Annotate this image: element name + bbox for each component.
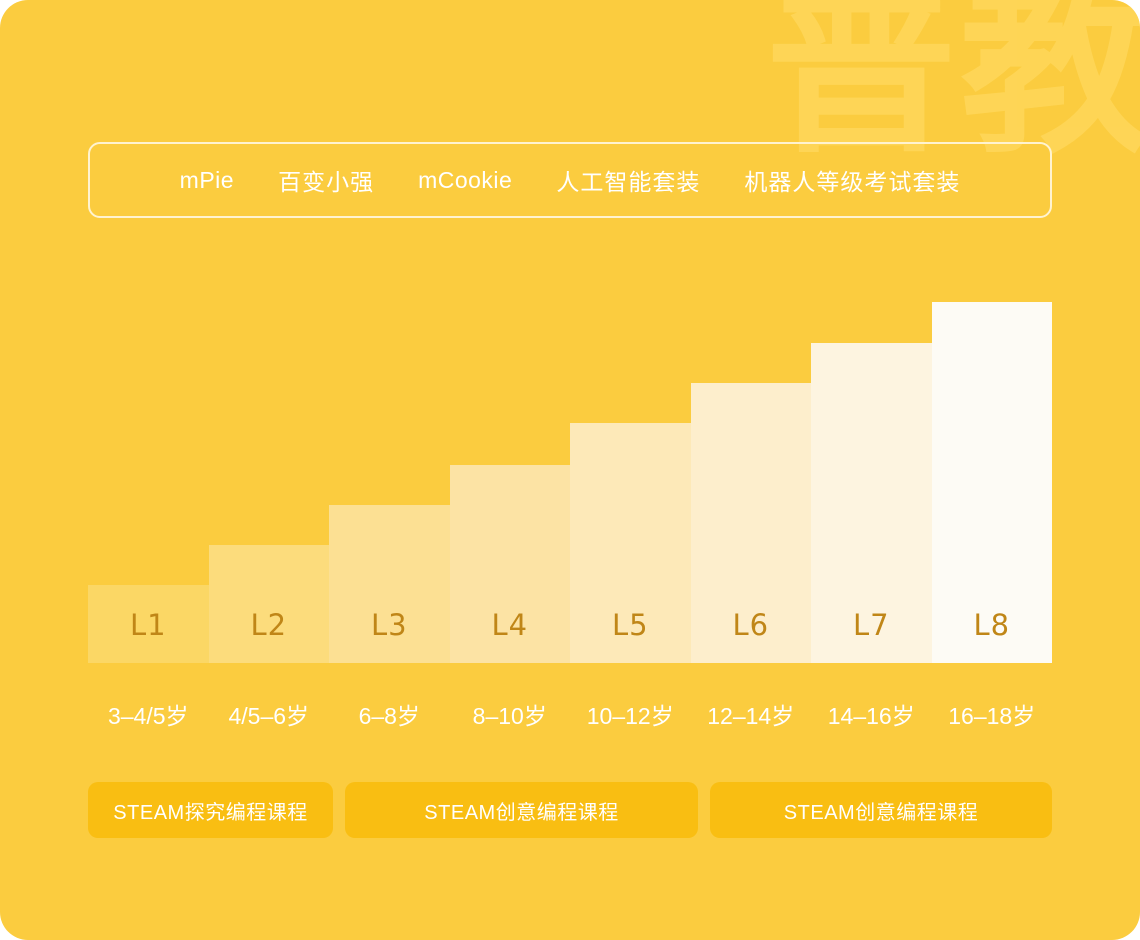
watermark-text: 普教 — [766, 0, 1140, 164]
tab-mpie[interactable]: mPie — [158, 167, 256, 194]
bar-l8[interactable]: L8 — [932, 302, 1053, 663]
bar-l5[interactable]: L5 — [570, 423, 691, 663]
level-bar-chart: L1 L2 L3 L4 L5 L6 L7 L8 — [88, 290, 1052, 663]
age-label-l1: 3–4/5岁 — [88, 697, 209, 731]
tab-robot-exam-kit[interactable]: 机器人等级考试套装 — [722, 163, 982, 197]
age-label-l4: 8–10岁 — [450, 697, 571, 731]
bar-label-l1: L1 — [130, 608, 167, 663]
bar-l4[interactable]: L4 — [450, 465, 571, 663]
age-label-l3: 6–8岁 — [329, 697, 450, 731]
bar-label-l5: L5 — [612, 608, 649, 663]
course-button-creative-2[interactable]: STEAM创意编程课程 — [710, 782, 1052, 838]
bar-l3[interactable]: L3 — [329, 505, 450, 663]
bar-l1[interactable]: L1 — [88, 585, 209, 663]
bar-label-l8: L8 — [973, 608, 1010, 663]
tab-mcookie[interactable]: mCookie — [396, 167, 534, 194]
age-label-l5: 10–12岁 — [570, 697, 691, 731]
age-label-l6: 12–14岁 — [691, 697, 812, 731]
age-label-l2: 4/5–6岁 — [209, 697, 330, 731]
tab-ai-kit[interactable]: 人工智能套装 — [534, 163, 722, 197]
course-button-creative-1[interactable]: STEAM创意编程课程 — [345, 782, 698, 838]
course-button-explore[interactable]: STEAM探究编程课程 — [88, 782, 333, 838]
bar-l2[interactable]: L2 — [209, 545, 330, 663]
bar-label-l6: L6 — [732, 608, 769, 663]
bar-l7[interactable]: L7 — [811, 343, 932, 663]
age-label-l7: 14–16岁 — [811, 697, 932, 731]
tab-baibianxiaoqiang[interactable]: 百变小强 — [256, 163, 396, 197]
product-tabbar: mPie 百变小强 mCookie 人工智能套装 机器人等级考试套装 — [88, 142, 1052, 218]
bar-label-l3: L3 — [371, 608, 408, 663]
age-label-l8: 16–18岁 — [932, 697, 1053, 731]
age-range-row: 3–4/5岁 4/5–6岁 6–8岁 8–10岁 10–12岁 12–14岁 1… — [88, 697, 1052, 731]
bar-label-l4: L4 — [491, 608, 528, 663]
bar-label-l2: L2 — [250, 608, 287, 663]
bar-label-l7: L7 — [853, 608, 890, 663]
bar-l6[interactable]: L6 — [691, 383, 812, 663]
course-button-row: STEAM探究编程课程 STEAM创意编程课程 STEAM创意编程课程 — [88, 782, 1052, 838]
course-level-card: 普教 mPie 百变小强 mCookie 人工智能套装 机器人等级考试套装 L1… — [0, 0, 1140, 940]
